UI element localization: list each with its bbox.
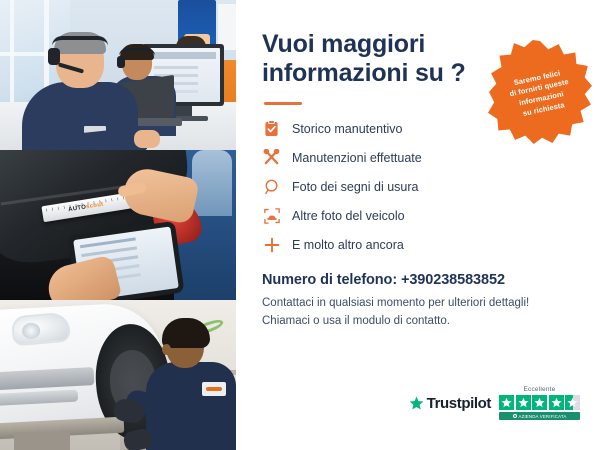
star-filled — [499, 395, 514, 410]
headset-icon — [478, 48, 498, 66]
magnifier-icon — [262, 177, 281, 196]
star-filled — [549, 395, 564, 410]
headline-line-2: informazioni su ? — [262, 59, 466, 87]
star-filled — [532, 395, 547, 410]
star-rating — [499, 395, 580, 410]
headline-line-1: Vuoi maggiori — [262, 30, 425, 58]
feature-label: E molto altro ancora — [292, 238, 404, 252]
contact-note-line-2: Chiamaci o usa il modulo di contatto. — [262, 315, 450, 327]
hand-holding-tablet — [44, 254, 123, 300]
promo-banner: AUTOscout — [0, 0, 600, 450]
car-headlight — [11, 312, 71, 347]
feature-label: Altre foto del veicolo — [292, 209, 405, 223]
verified-label: AZIENDA VERIFICATA — [519, 414, 567, 419]
mechanic-person — [140, 318, 236, 450]
star-half — [565, 395, 580, 410]
trustpilot-rating[interactable]: Trustpilot Eccellente — [409, 386, 580, 420]
star-filled — [516, 395, 531, 410]
trustpilot-rating-label: Eccellente — [524, 386, 556, 393]
check-circle-icon — [513, 414, 517, 418]
feature-label: Manutenzioni effettuate — [292, 151, 422, 165]
list-item: Manutenzioni effettuate — [262, 148, 574, 167]
feature-label: Storico manutentivo — [292, 122, 402, 136]
feature-label: Foto dei segni di usura — [292, 180, 418, 194]
photo-column: AUTOscout — [0, 0, 236, 450]
clipboard-check-icon — [262, 119, 281, 138]
trustpilot-logo: Trustpilot — [409, 395, 491, 412]
vehicle-inspection-ruler-photo: AUTOscout — [0, 150, 236, 300]
call-center-agents-photo — [0, 0, 236, 150]
phone-number[interactable]: Numero di telefono: +390238583852 — [262, 272, 574, 288]
title-divider — [264, 102, 302, 105]
mechanic-wheel-service-photo — [0, 300, 236, 450]
tools-wrench-icon — [262, 148, 281, 167]
trustpilot-star-icon — [409, 396, 424, 411]
trustpilot-brand: Trustpilot — [427, 395, 491, 412]
content-panel: Vuoi maggiori informazioni su ? Saremo f… — [236, 0, 600, 450]
list-item: Altre foto del veicolo — [262, 206, 574, 225]
verified-business-badge: AZIENDA VERIFICATA — [499, 412, 580, 420]
list-item: Foto dei segni di usura — [262, 177, 574, 196]
car-focus-icon — [262, 206, 281, 225]
agent-foreground — [22, 34, 138, 150]
trustpilot-score-block: Eccellente — [499, 386, 580, 420]
plus-icon — [262, 235, 281, 254]
contact-note-line-1: Contattaci in qualsiasi momento per ulte… — [262, 297, 529, 309]
background-person — [192, 150, 232, 216]
contact-note: Contattaci in qualsiasi momento per ulte… — [262, 295, 574, 331]
list-item: E molto altro ancora — [262, 235, 574, 254]
request-info-badge: Saremo felici di fornirti queste informa… — [488, 40, 592, 144]
